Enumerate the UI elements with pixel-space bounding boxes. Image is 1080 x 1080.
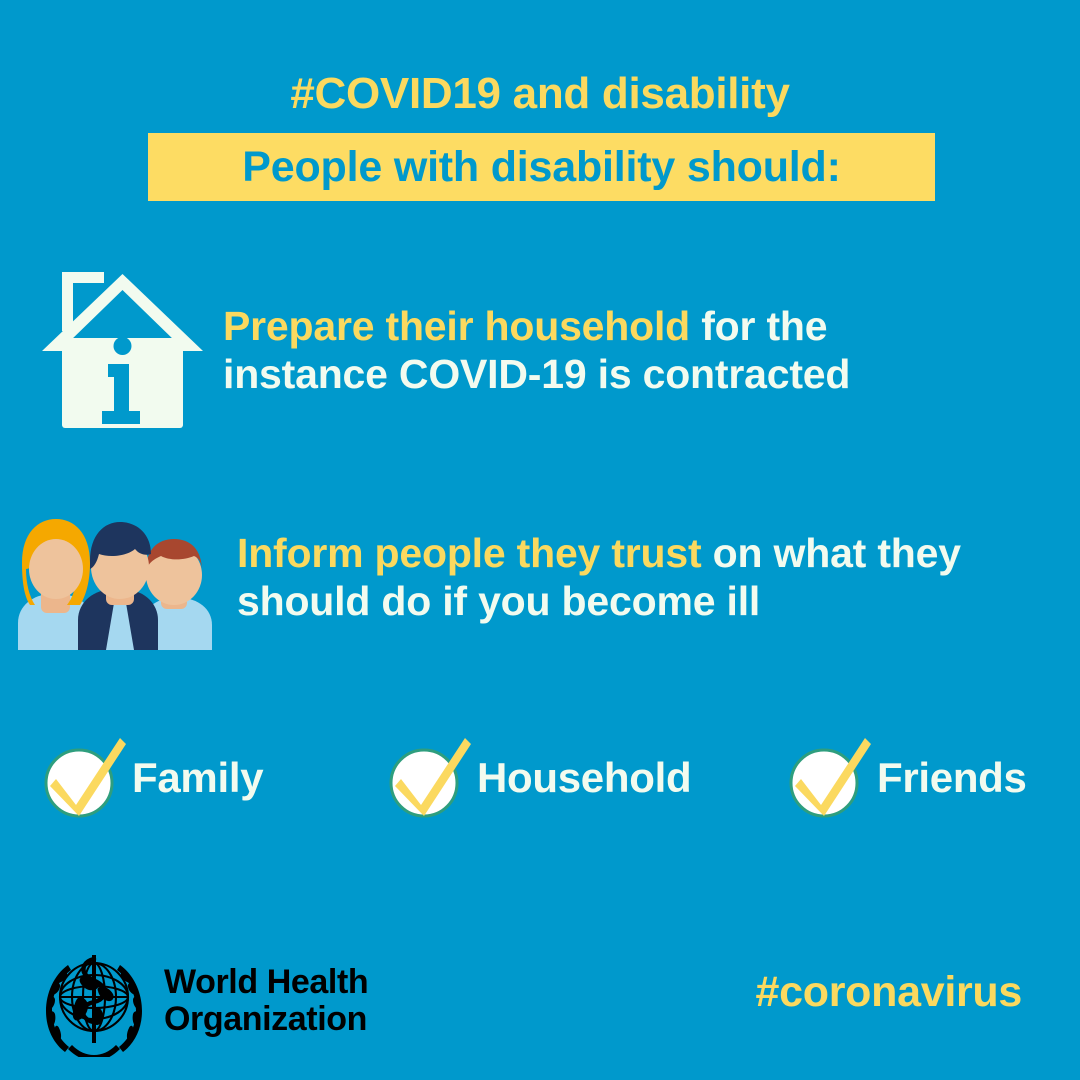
who-wordmark-line1: World Health xyxy=(164,964,368,1001)
household-message-text: Prepare their household for the instance… xyxy=(223,303,963,398)
subtitle-text: People with disability should: xyxy=(242,146,840,189)
checkmark-icon xyxy=(785,735,871,821)
house-information-icon xyxy=(40,268,205,433)
checklist-label-family: Family xyxy=(132,754,263,802)
household-highlight: Prepare their household xyxy=(223,303,690,349)
checkmark-icon xyxy=(40,735,126,821)
message-row-inform: Inform people they trust on what they sh… xyxy=(14,505,1024,650)
checklist-label-household: Household xyxy=(477,754,691,802)
hashtag-coronavirus: #coronavirus xyxy=(756,968,1022,1017)
poster-canvas: #COVID19 and disability People with disa… xyxy=(0,0,1080,1080)
inform-highlight: Inform people they trust xyxy=(237,530,701,576)
who-logo: World Health Organization xyxy=(38,945,368,1057)
checklist-item-friends: Friends xyxy=(785,735,1050,821)
who-wordmark: World Health Organization xyxy=(164,964,368,1037)
page-title: #COVID19 and disability xyxy=(0,72,1080,116)
checklist-label-friends: Friends xyxy=(877,754,1027,802)
message-row-household: Prepare their household for the instance… xyxy=(40,268,1040,433)
who-wordmark-line2: Organization xyxy=(164,1001,368,1038)
checkmark-icon xyxy=(385,735,471,821)
who-emblem-icon xyxy=(38,945,150,1057)
checklist-item-family: Family xyxy=(40,735,385,821)
subtitle-banner: People with disability should: xyxy=(148,133,935,201)
inform-message-text: Inform people they trust on what they sh… xyxy=(237,530,997,625)
three-people-icon xyxy=(14,505,229,650)
checklist-row: Family Household Friends xyxy=(40,735,1050,821)
checklist-item-household: Household xyxy=(385,735,785,821)
